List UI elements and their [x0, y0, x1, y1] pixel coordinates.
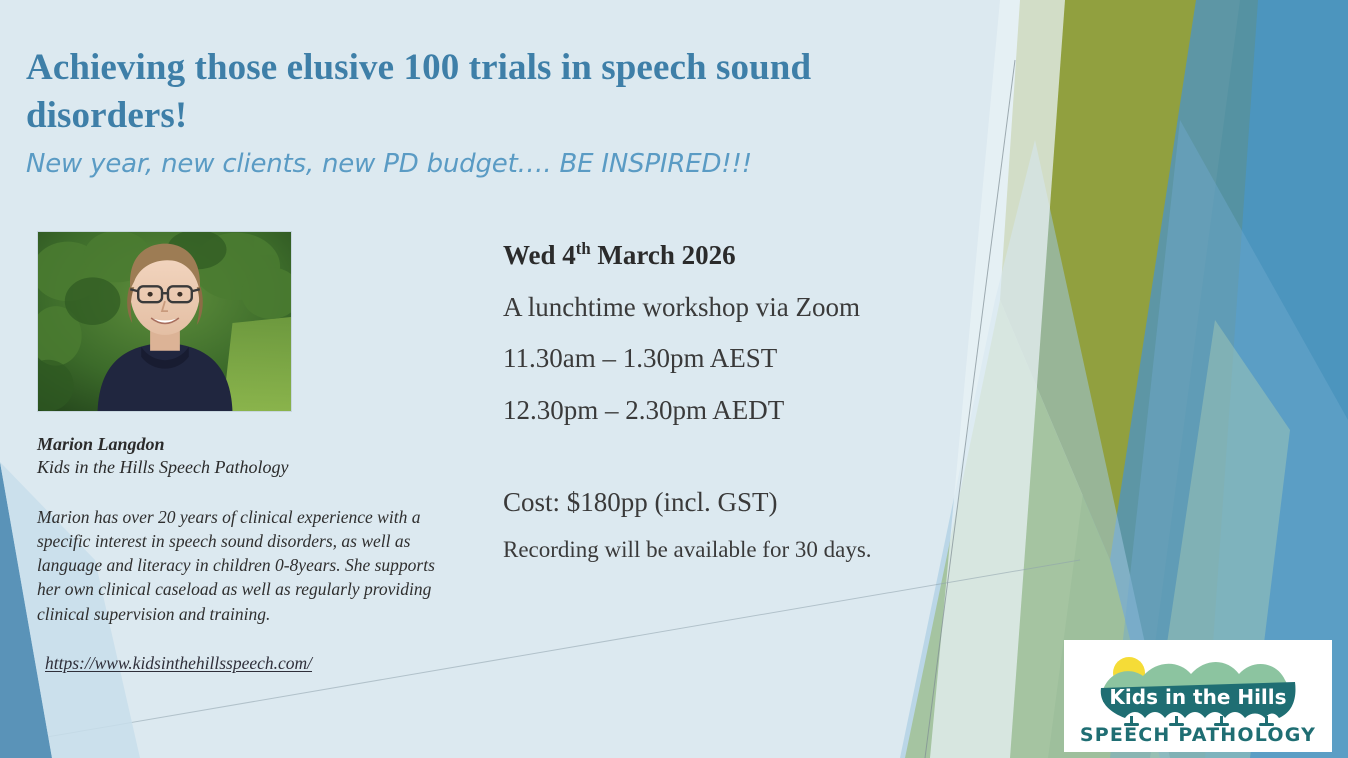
presenter-panel: Marion Langdon Kids in the Hills Speech … — [37, 231, 467, 674]
event-date-ordinal: th — [576, 239, 591, 258]
details-spacer — [503, 448, 1023, 488]
presenter-bio: Marion has over 20 years of clinical exp… — [37, 505, 449, 626]
event-time-aedt: 12.30pm – 2.30pm AEDT — [503, 396, 1023, 426]
logo-name-text: Kids in the Hills — [1109, 685, 1286, 709]
event-date-suffix: March 2026 — [591, 240, 736, 270]
company-logo: Kids in the Hills SPEECH PATHOLOGY — [1064, 640, 1332, 752]
event-recording-note: Recording will be available for 30 days. — [503, 537, 1023, 562]
logo-tagline-text: SPEECH PATHOLOGY — [1080, 724, 1316, 746]
presenter-website-link[interactable]: https://www.kidsinthehillsspeech.com/ — [45, 653, 312, 674]
presenter-photo — [37, 231, 292, 412]
page-title: Achieving those elusive 100 trials in sp… — [26, 44, 926, 140]
title-block: Achieving those elusive 100 trials in sp… — [26, 44, 926, 181]
event-cost: Cost: $180pp (incl. GST) — [503, 488, 1023, 518]
presenter-name: Marion Langdon — [37, 433, 467, 456]
event-date: Wed 4th March 2026 — [503, 240, 1023, 271]
presenter-organisation: Kids in the Hills Speech Pathology — [37, 456, 467, 479]
event-format: A lunchtime workshop via Zoom — [503, 293, 1023, 323]
event-date-prefix: Wed 4 — [503, 240, 576, 270]
event-details-panel: Wed 4th March 2026 A lunchtime workshop … — [503, 240, 1023, 563]
event-time-aest: 11.30am – 1.30pm AEST — [503, 344, 1023, 374]
page-subtitle: New year, new clients, new PD budget…. B… — [26, 148, 926, 181]
presentation-slide: Achieving those elusive 100 trials in sp… — [0, 0, 1348, 758]
